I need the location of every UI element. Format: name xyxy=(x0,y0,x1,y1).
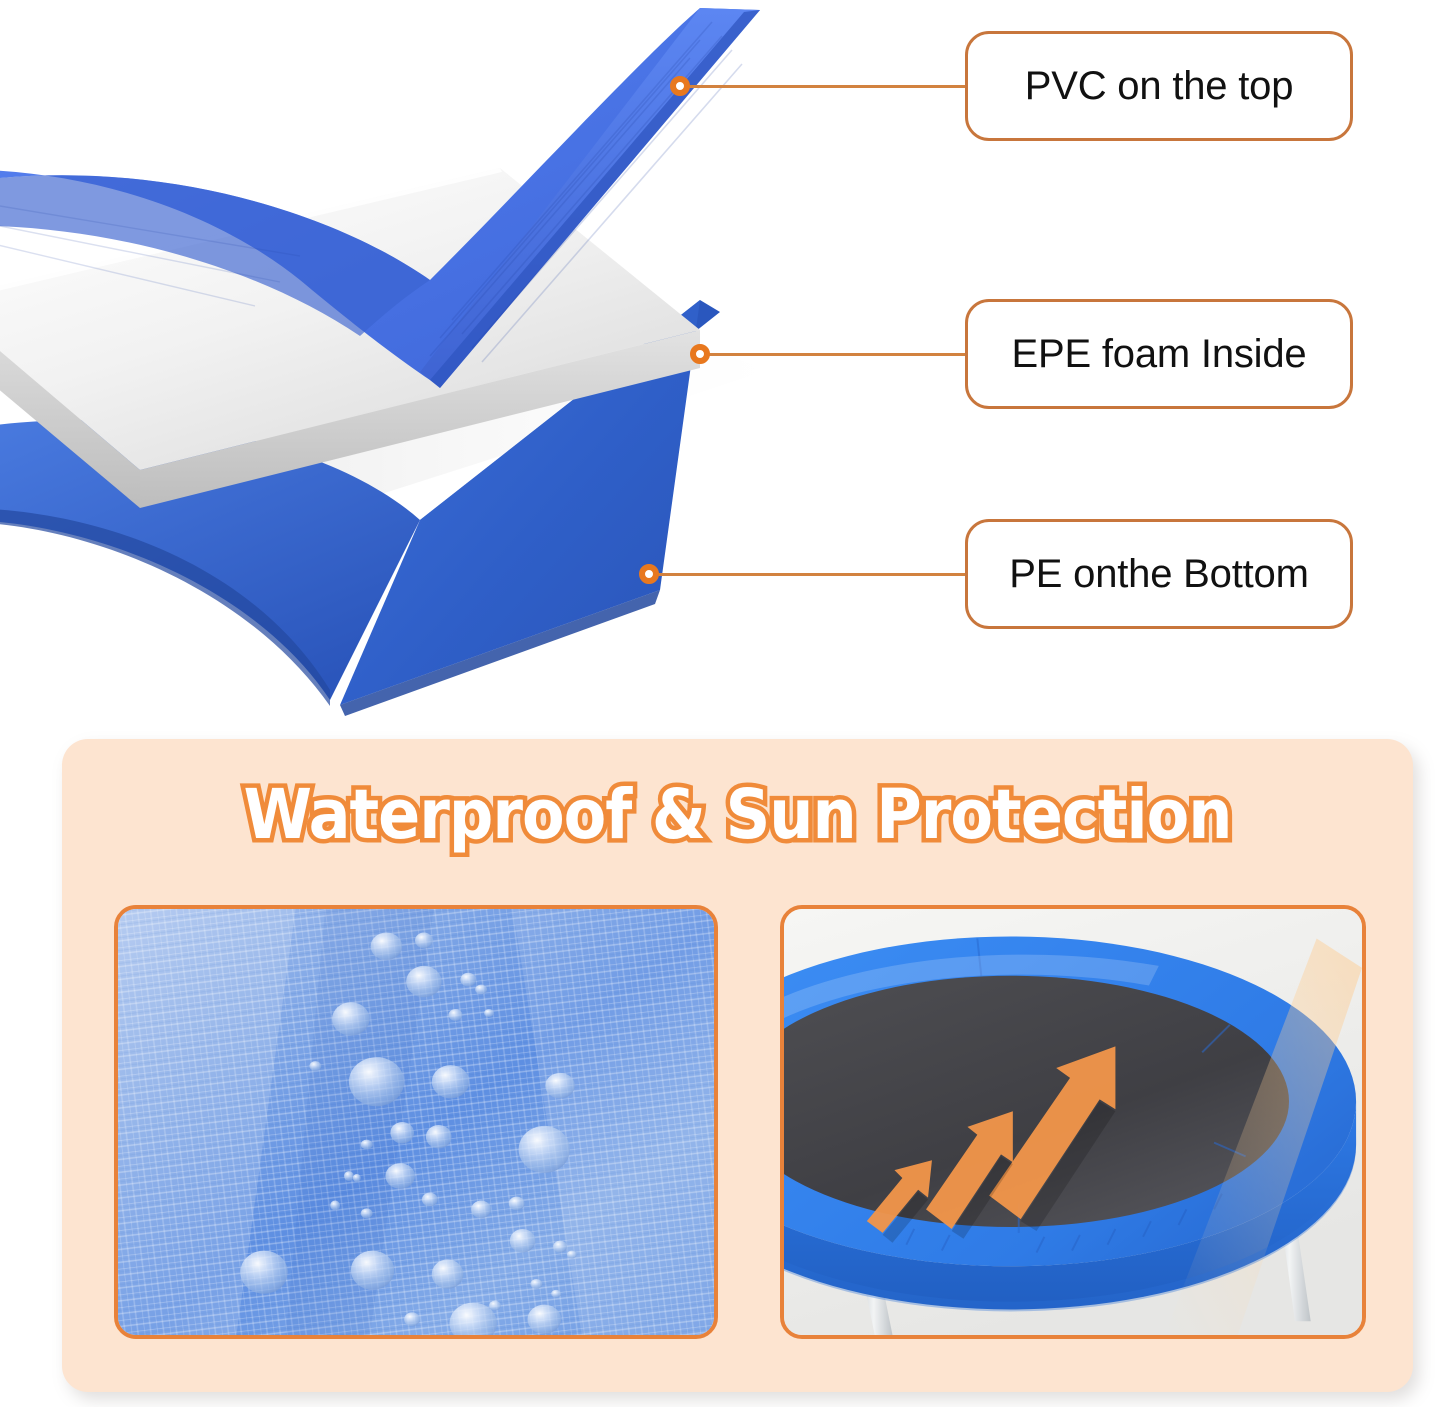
feature-panel: Waterproof & Sun Protection xyxy=(62,739,1413,1392)
callout-box-pe: PE onthe Bottom xyxy=(965,519,1353,629)
leader-line-epe xyxy=(706,353,966,356)
layer-construction-illustration xyxy=(0,0,960,720)
leader-dot-icon-pvc xyxy=(670,76,690,96)
photo-waterproof xyxy=(114,905,718,1339)
callout-label-pe: PE onthe Bottom xyxy=(1009,552,1308,597)
callout-box-pvc: PVC on the top xyxy=(965,31,1353,141)
callout-label-epe: EPE foam Inside xyxy=(1012,332,1307,377)
leader-line-pe xyxy=(655,573,966,576)
callout-label-pvc: PVC on the top xyxy=(1025,64,1294,109)
leader-dot-icon-pe xyxy=(639,564,659,584)
leader-dot-icon-epe xyxy=(690,344,710,364)
feature-panel-heading: Waterproof & Sun Protection xyxy=(62,781,1413,850)
photo-sun-protection xyxy=(780,905,1366,1339)
leader-line-pvc xyxy=(686,85,966,88)
callout-box-epe: EPE foam Inside xyxy=(965,299,1353,409)
